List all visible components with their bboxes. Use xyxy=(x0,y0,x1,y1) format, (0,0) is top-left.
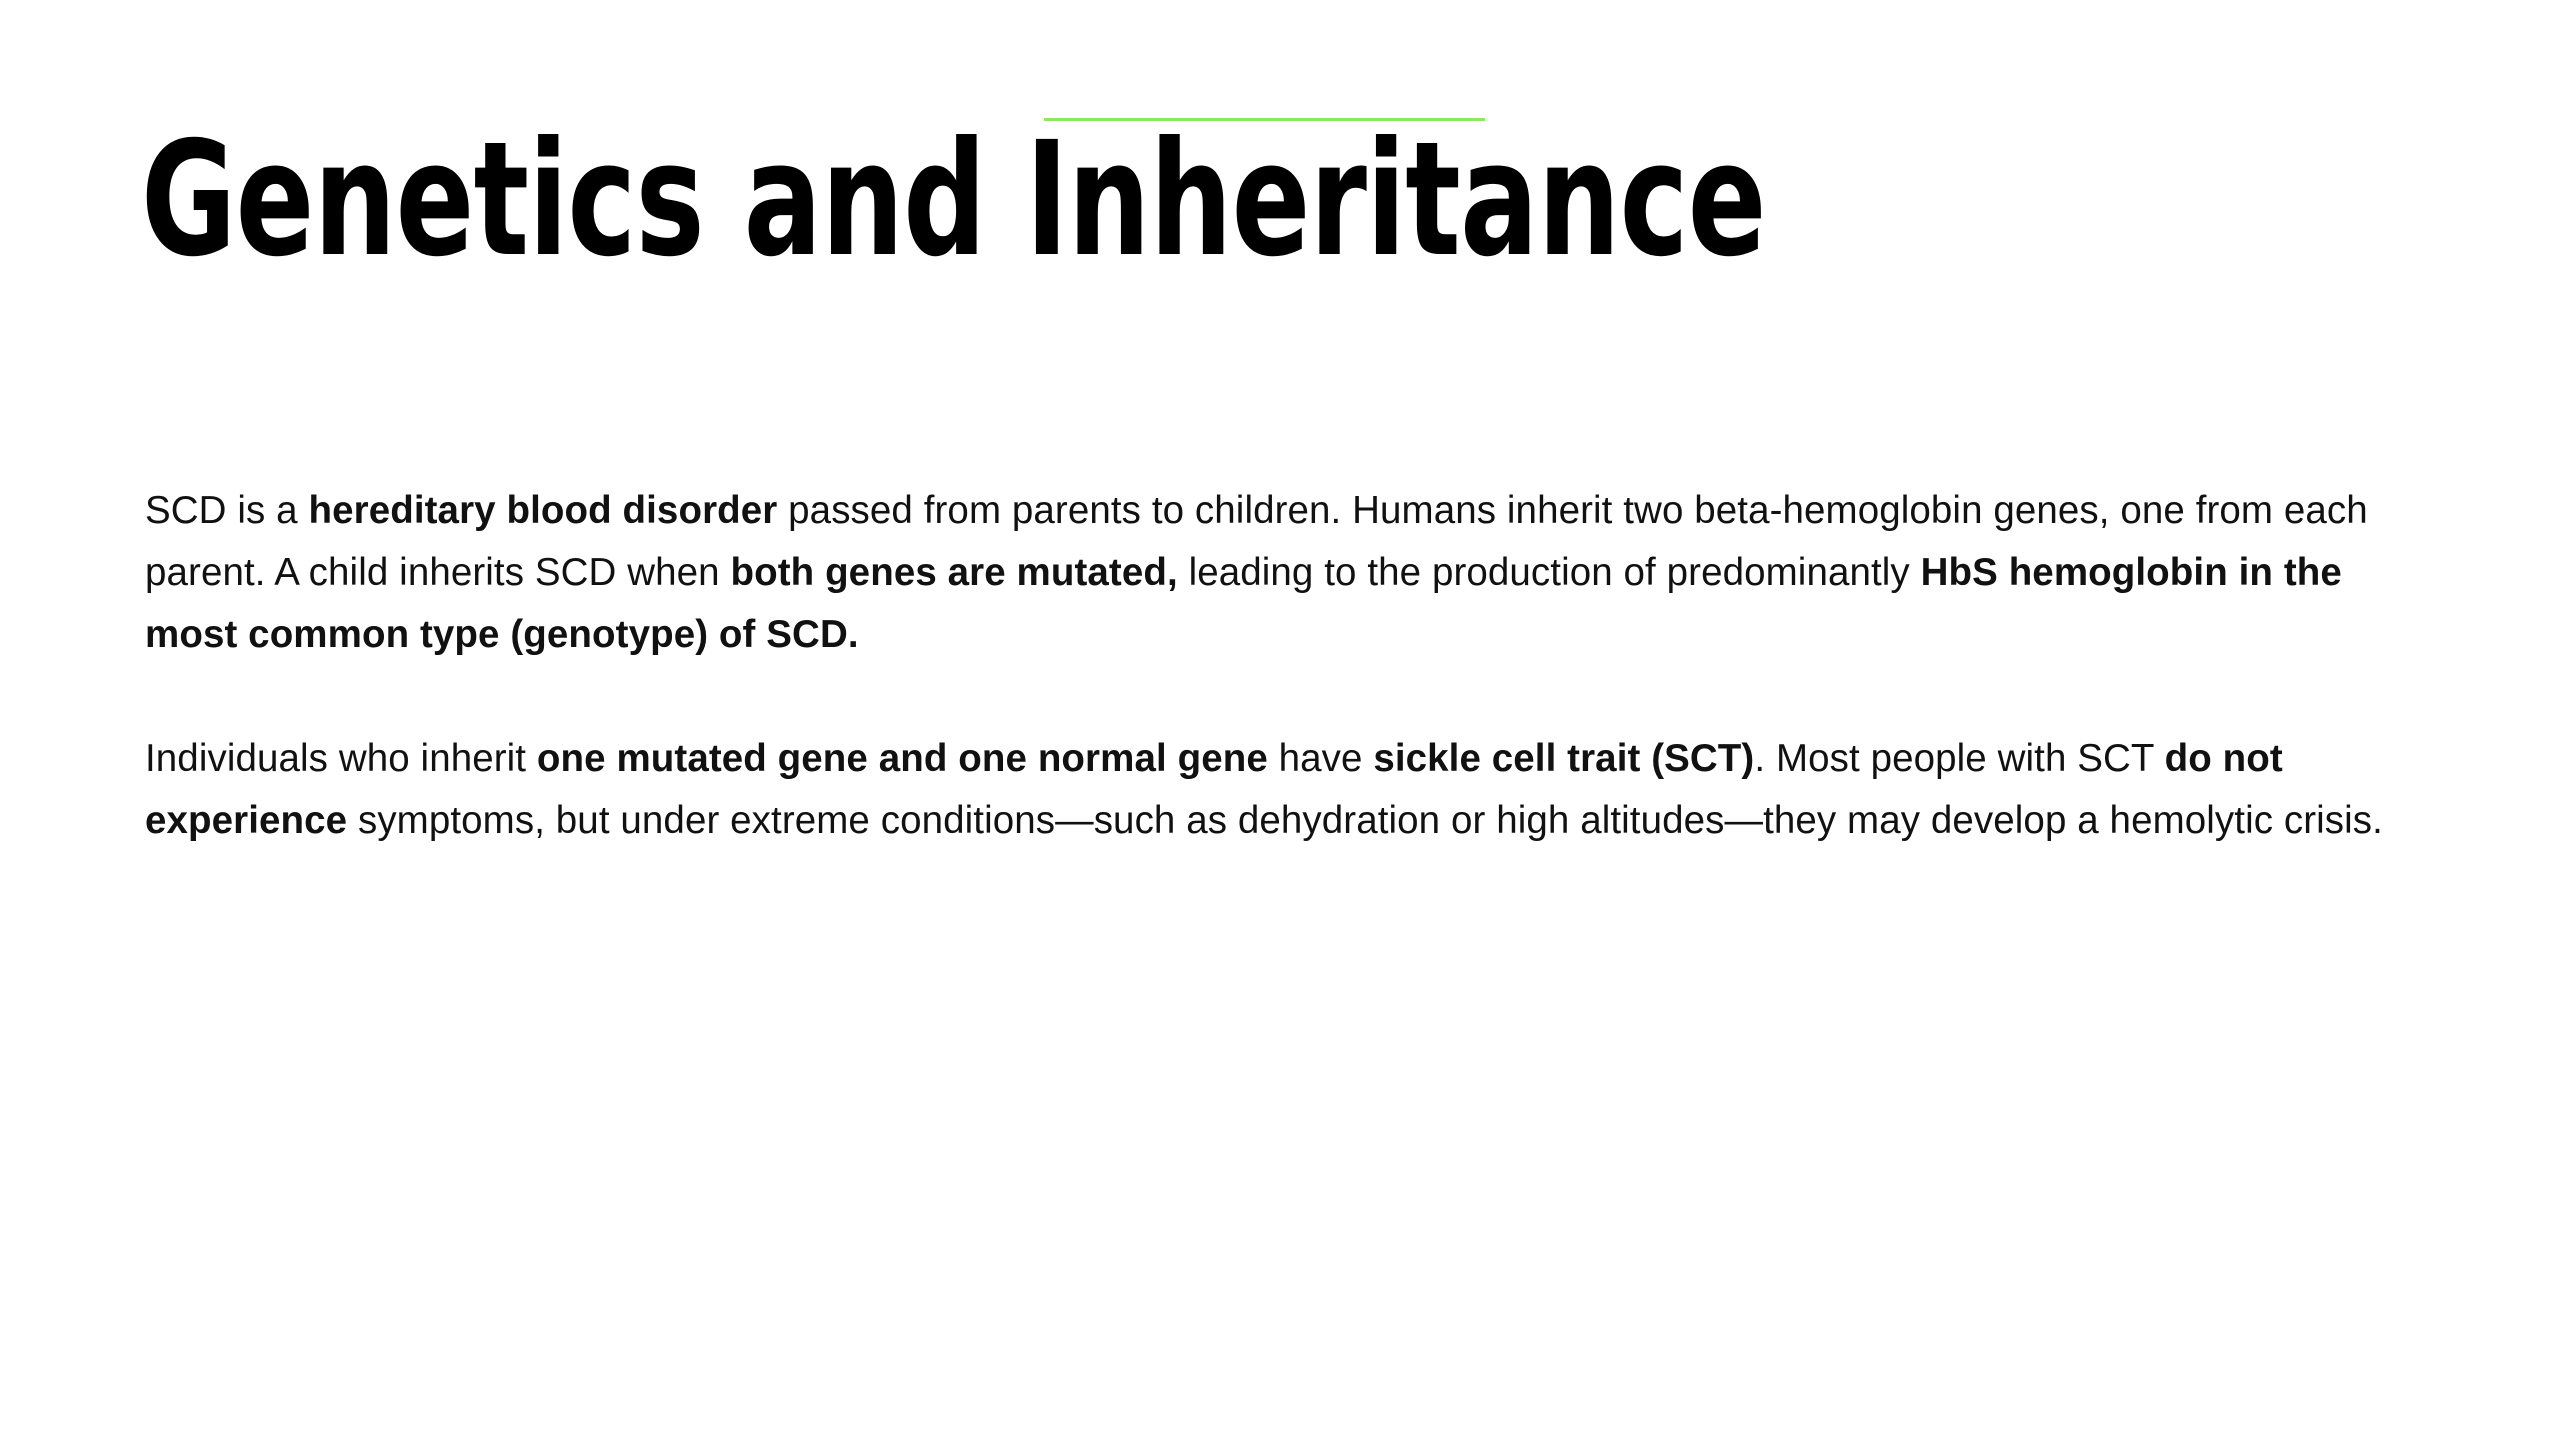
emphasis-text: sickle cell trait (SCT) xyxy=(1373,737,1754,780)
page-title: Genetics and Inheritance xyxy=(141,128,1766,273)
plain-text: symptoms, but under extreme conditions—s… xyxy=(347,799,2383,842)
paragraph-2: Individuals who inherit one mutated gene… xyxy=(145,728,2413,852)
slide: Genetics and Inheritance SCD is a heredi… xyxy=(0,0,2560,1440)
plain-text: SCD is a xyxy=(145,489,309,532)
plain-text: have xyxy=(1268,737,1373,780)
plain-text: leading to the production of predominant… xyxy=(1178,551,1921,594)
body-content: SCD is a hereditary blood disorder passe… xyxy=(145,480,2413,852)
plain-text: Individuals who inherit xyxy=(145,737,537,780)
emphasis-text: one mutated gene and one normal gene xyxy=(537,737,1268,780)
emphasis-text: both genes are mutated, xyxy=(731,551,1178,594)
plain-text: . Most people with SCT xyxy=(1754,737,2164,780)
paragraph-1: SCD is a hereditary blood disorder passe… xyxy=(145,480,2413,666)
emphasis-text: hereditary blood disorder xyxy=(309,489,778,532)
